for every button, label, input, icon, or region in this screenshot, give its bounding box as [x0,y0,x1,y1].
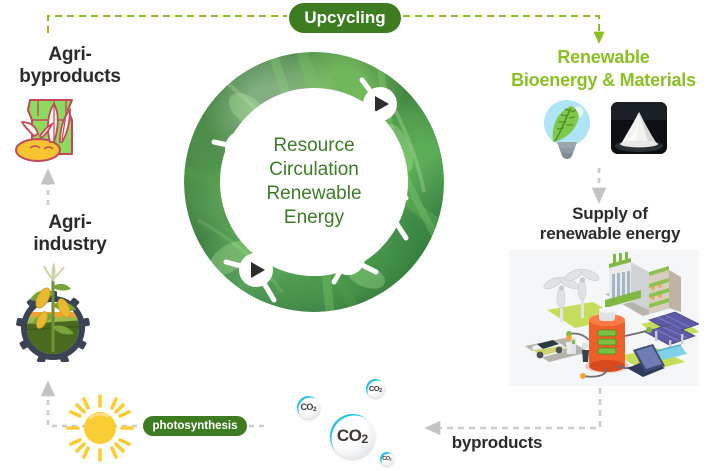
co2-label: CO2 [382,456,391,462]
center-line-3: Renewable [266,183,361,204]
co2-label: CO2 [369,384,382,394]
center-line-1: Resource [273,135,354,156]
upcycling-path-left [48,16,287,33]
center-line-2: Circulation [269,159,359,180]
photosynthesis-badge[interactable]: photosynthesis [143,416,247,436]
renewable-line-2: Bioenergy & Materials [511,70,696,90]
upcycling-badge[interactable]: Upcycling [289,3,401,33]
co2-label: CO2 [300,402,316,413]
resource-circulation-ring: Resource Circulation Renewable Energy [184,52,444,312]
co2-bubble-small-left: CO2 [297,396,320,419]
renewable-bioenergy-label: Renewable Bioenergy & Materials [500,46,707,91]
ring-center-label: Resource Circulation Renewable Energy [220,88,408,276]
center-line-4: Energy [284,207,344,228]
co2-label: CO2 [337,426,368,446]
supply-renewable-energy-label: Supply of renewable energy [520,204,700,244]
renewable-line-1: Renewable [557,47,649,67]
photosynthesis-label: photosynthesis [153,420,238,432]
agri-byproducts-sack-icon [14,92,84,164]
co2-bubble-small-top-right: CO2 [366,379,385,398]
agri-byproducts-line-2: byproducts [19,66,120,87]
infographic-canvas: Resource Circulation Renewable Energy Up… [0,0,707,471]
supply-line-2: renewable energy [540,224,680,243]
arrow-energy-to-byproducts [432,388,600,428]
agri-byproducts-line-1: Agri- [48,44,91,65]
green-bulb-icon [535,98,599,160]
co2-bubble-large: CO2 [330,414,375,459]
agri-byproducts-label: Agri- byproducts [0,44,140,89]
supply-line-1: Supply of [572,204,648,223]
agri-industry-line-1: Agri- [48,212,91,233]
byproducts-label: byproducts [412,433,582,453]
co2-bubble-tiny-bottom-right: CO2 [380,452,394,466]
agri-industry-label: Agri- industry [0,212,140,257]
agri-industry-corn-gear-icon [12,258,94,362]
agri-industry-line-2: industry [33,234,106,255]
upcycling-path-right [403,16,599,38]
upcycling-label: Upcycling [304,8,385,28]
sun-icon [64,392,136,464]
renewable-energy-city-illustration [509,250,699,386]
white-powder-photo [611,102,667,154]
